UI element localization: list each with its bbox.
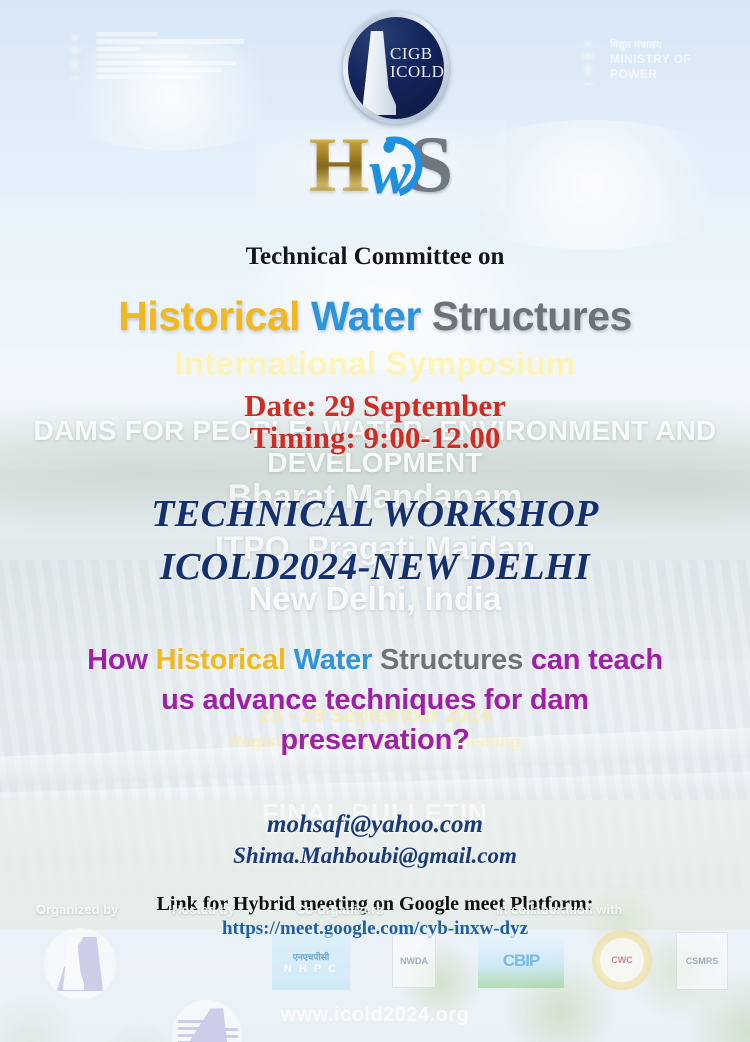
sponsor-logo-cbip[interactable]: CBIP <box>478 934 564 988</box>
ministry-text-block-left <box>96 28 244 79</box>
ashoka-pillar-icon <box>575 34 601 92</box>
question-word-how: How <box>87 644 155 676</box>
sponsor-logo-nhpc[interactable]: एनएचपीसी N H P C <box>272 934 350 990</box>
cbip-label: CBIP <box>503 951 540 971</box>
committee-prefix: Technical Committee on <box>0 243 750 271</box>
cigb-icold-logo: CIGB ICOLD <box>343 12 449 124</box>
question-word-canteach: can teach <box>523 644 663 676</box>
partner-1-label: NWDA <box>400 956 428 966</box>
partner-3-label: CSMRS <box>686 956 719 966</box>
event-timing: Timing: 9:00-12.00 <box>0 420 750 456</box>
organized-by-label: Organized by <box>36 902 118 917</box>
question-line-1: How Historical Water Structures can teac… <box>0 644 750 677</box>
sponsor-logo-partner-2[interactable]: CWC <box>592 930 652 990</box>
question-line-2: us advance techniques for dam <box>0 684 750 717</box>
collaboration-label: in collaboration with <box>496 902 622 917</box>
co-organizers-label: Co-organizers <box>296 902 383 917</box>
workshop-title-line-2: ICOLD2024-NEW DELHI <box>0 545 750 589</box>
contact-email-1[interactable]: mohsafi@yahoo.com <box>0 811 750 839</box>
water-lines-icon <box>178 1020 206 1042</box>
event-date: Date: 29 September <box>0 388 750 424</box>
nhpc-hindi-label: एनएचपीसी <box>293 950 330 963</box>
government-of-india-emblem <box>62 28 272 100</box>
water-lines-icon <box>217 1028 238 1042</box>
contact-email-2[interactable]: Shima.Mahboubi@gmail.com <box>0 843 750 869</box>
title-word-historical: Historical <box>118 293 300 339</box>
ministry-hindi-label: विद्युत मंत्रालय <box>610 40 691 52</box>
ministry-line-1: MINISTRY OF <box>610 52 691 67</box>
logo-text-icold: ICOLD <box>390 63 444 81</box>
partner-2-label: CWC <box>600 938 643 981</box>
question-word-historical: Historical <box>156 644 286 676</box>
ministry-text-block-right: विद्युत मंत्रालय MINISTRY OF POWER <box>610 34 691 81</box>
title-word-water: Water <box>311 293 421 339</box>
logo-text: CIGB ICOLD <box>390 45 444 81</box>
title-word-structures: Structures <box>432 293 632 339</box>
poster-canvas: International Symposium DAMS FOR PEOPLE,… <box>0 0 750 1042</box>
logo-text-cigb: CIGB <box>390 45 444 63</box>
page-title: Historical Water Structures <box>0 293 750 340</box>
sponsor-logo-partner-3[interactable]: CSMRS <box>676 932 728 990</box>
workshop-title-line-1: TECHNICAL WORKSHOP <box>0 492 750 536</box>
hws-letter-h: H <box>309 126 370 204</box>
sponsor-logo-cigb-icold[interactable] <box>44 928 116 1000</box>
hosted-by-label: Hosted by <box>172 902 235 917</box>
ministry-of-power-emblem: विद्युत मंत्रालय MINISTRY OF POWER <box>575 34 725 110</box>
question-word-water: Water <box>294 644 373 676</box>
sponsor-logo-partner-1[interactable]: NWDA <box>392 934 436 988</box>
question-word-structures: Structures <box>380 644 523 676</box>
ministry-line-2: POWER <box>610 67 691 82</box>
logo-inner-disc: CIGB ICOLD <box>348 17 444 119</box>
hws-wordmark-logo: H w S <box>256 120 506 210</box>
nhpc-english-label: N H P C <box>284 963 338 975</box>
question-line-3: preservation? <box>0 724 750 757</box>
ashoka-pillar-icon <box>62 28 88 86</box>
